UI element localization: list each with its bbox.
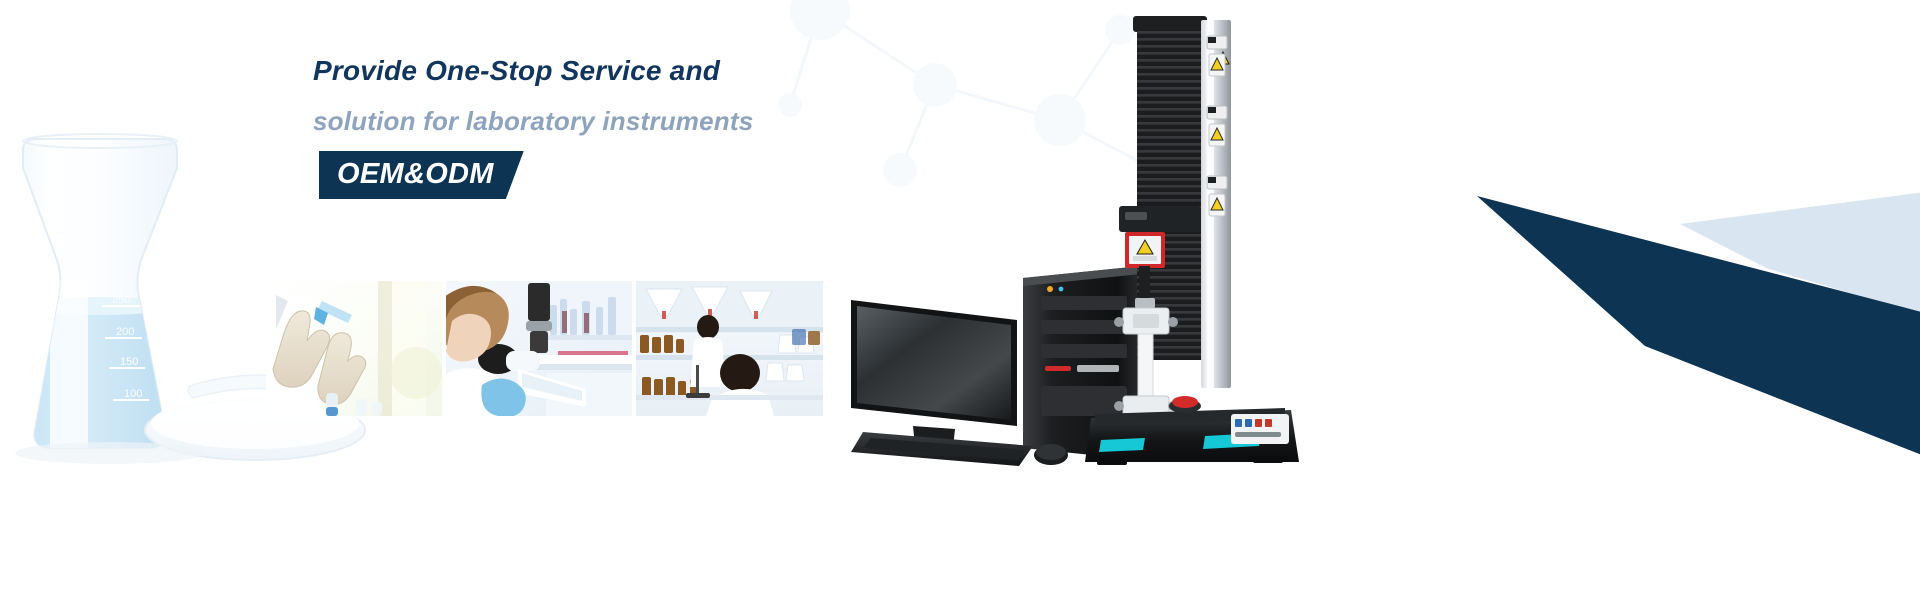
liquid-meniscus — [25, 297, 175, 315]
crosshead-warning-placard — [1125, 232, 1165, 268]
glass-reflection-2 — [15, 260, 31, 450]
oem-odm-badge: OEM&ODM — [319, 151, 524, 199]
photo-lab-bench — [636, 281, 823, 416]
emergency-stop-button — [1172, 396, 1198, 408]
warning-label-3 — [1207, 176, 1227, 216]
lcd-monitor — [851, 300, 1017, 454]
graduation-label-150: 150 — [120, 356, 138, 368]
light-arrow-shape — [1680, 190, 1920, 320]
warning-label-2 — [1207, 106, 1227, 146]
flask-shadow — [15, 442, 205, 464]
graduation-label-250: 250 — [112, 294, 130, 306]
graduation-unit-label: mL — [62, 282, 76, 293]
photo-strip — [266, 281, 823, 416]
dark-arrow-shape — [1477, 196, 1920, 461]
upper-grip — [1114, 308, 1178, 334]
oem-odm-badge-wrap: OEM&ODM — [319, 151, 524, 199]
graduation-label-100: 100 — [124, 388, 142, 400]
hero-banner: 250 200 150 100 mL Provide One-Stop Serv… — [0, 0, 1920, 597]
graduation-label-200: 200 — [116, 326, 134, 338]
control-panel — [1231, 414, 1289, 444]
mouse — [1034, 444, 1068, 465]
base-accent-left — [1099, 438, 1145, 452]
universal-tensile-testing-machine — [1085, 10, 1315, 470]
photo-pipetting — [266, 281, 442, 416]
glass-reflection — [50, 280, 88, 450]
photo-microscope — [446, 281, 632, 416]
